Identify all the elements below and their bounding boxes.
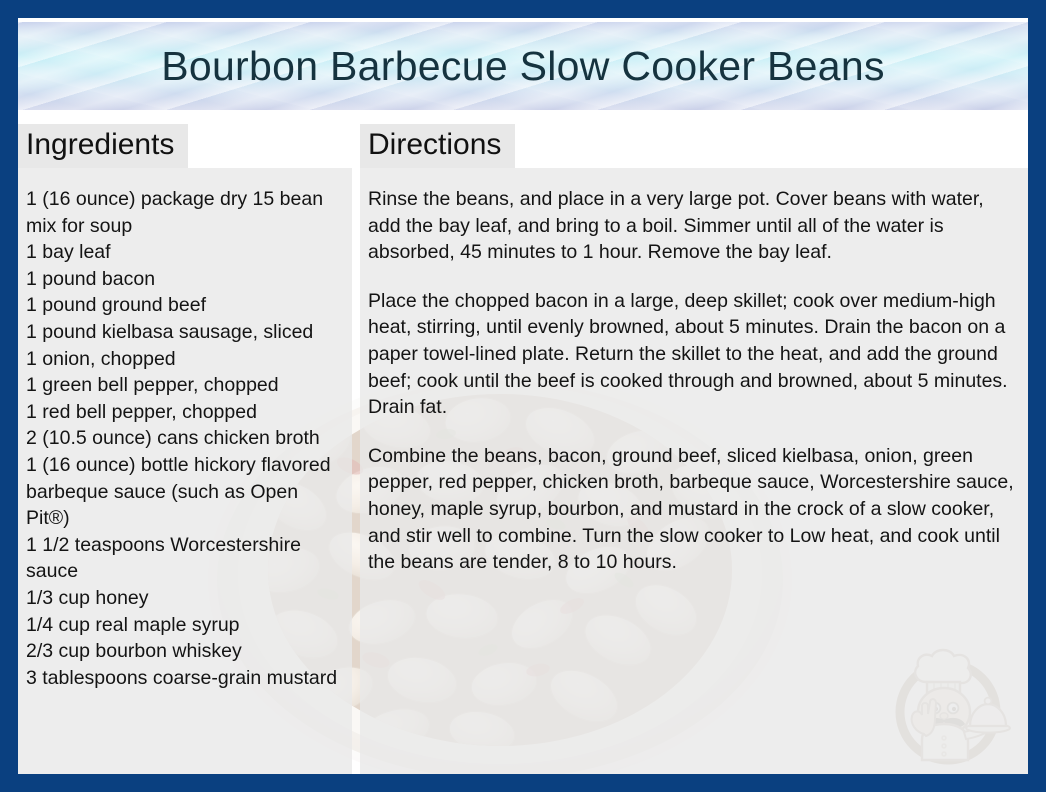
recipe-columns: Ingredients 1 (16 ounce) package dry 15 …	[18, 124, 1028, 774]
list-item: 1 pound kielbasa sausage, sliced	[26, 319, 342, 346]
list-item: 2 (10.5 ounce) cans chicken broth	[26, 425, 342, 452]
list-item: 1 bay leaf	[26, 239, 342, 266]
directions-section: Directions Rinse the beans, and place in…	[360, 124, 1028, 774]
ingredient-list: 1 (16 ounce) package dry 15 bean mix for…	[26, 186, 342, 691]
list-item: 1/4 cup real maple syrup	[26, 612, 342, 639]
list-item: 1 (16 ounce) bottle hickory flavored bar…	[26, 452, 342, 532]
directions-heading: Directions	[360, 124, 515, 168]
ingredients-panel: 1 (16 ounce) package dry 15 bean mix for…	[18, 168, 352, 778]
ingredients-heading: Ingredients	[18, 124, 188, 168]
list-item: 1 red bell pepper, chopped	[26, 399, 342, 426]
list-item: 3 tablespoons coarse-grain mustard	[26, 665, 342, 692]
list-item: 1 pound ground beef	[26, 292, 342, 319]
direction-step: Combine the beans, bacon, ground beef, s…	[368, 443, 1018, 576]
direction-step: Rinse the beans, and place in a very lar…	[368, 186, 1018, 266]
page-title: Bourbon Barbecue Slow Cooker Beans	[161, 43, 885, 90]
list-item: 1 (16 ounce) package dry 15 bean mix for…	[26, 186, 342, 239]
title-banner: Bourbon Barbecue Slow Cooker Beans	[18, 22, 1028, 110]
directions-panel: Rinse the beans, and place in a very lar…	[360, 168, 1028, 774]
list-item: 2/3 cup bourbon whiskey	[26, 638, 342, 665]
list-item: 1 1/2 teaspoons Worcestershire sauce	[26, 532, 342, 585]
ingredients-section: Ingredients 1 (16 ounce) package dry 15 …	[18, 124, 352, 778]
direction-step: Place the chopped bacon in a large, deep…	[368, 288, 1018, 421]
list-item: 1 green bell pepper, chopped	[26, 372, 342, 399]
list-item: 1/3 cup honey	[26, 585, 342, 612]
list-item: 1 onion, chopped	[26, 346, 342, 373]
recipe-card: Bourbon Barbecue Slow Cooker Beans	[0, 0, 1046, 792]
list-item: 1 pound bacon	[26, 266, 342, 293]
